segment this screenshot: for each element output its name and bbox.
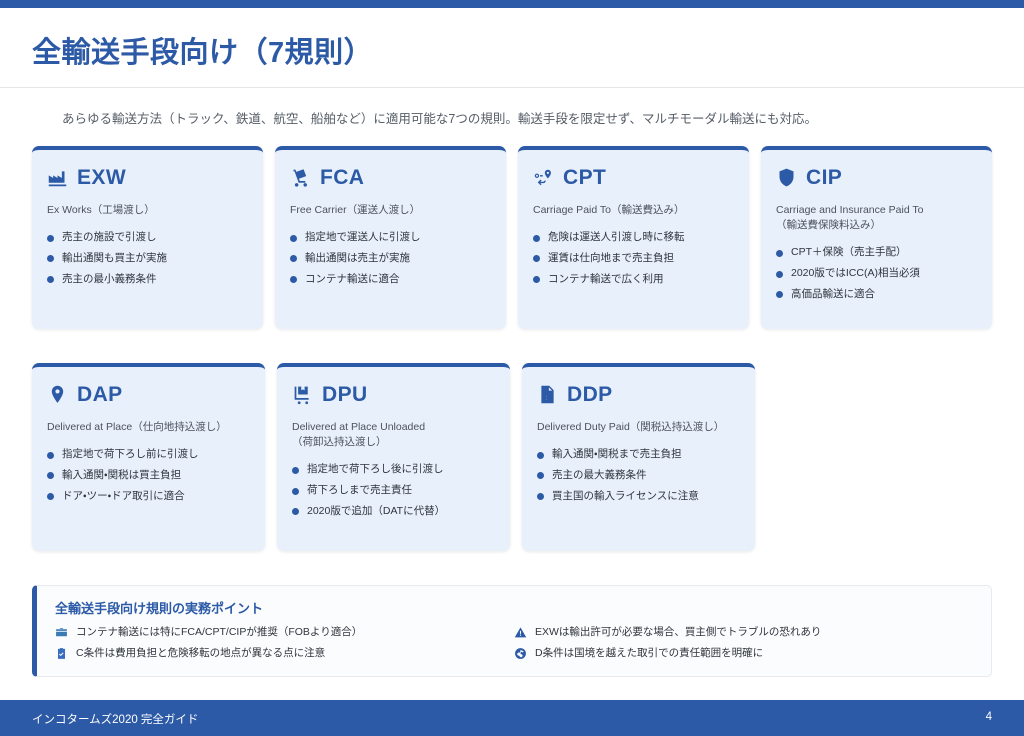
- tip-item: D条件は国境を越えた取引での責任範囲を明確に: [514, 647, 973, 660]
- bullet-text: 輸入通関・関税は買主負担: [62, 469, 181, 483]
- card-subtitle: Delivered at Place（仕向地持込渡し）: [47, 420, 250, 435]
- bullet-item: ドア・ツー・ドア取引に適合: [47, 490, 250, 504]
- bullet-dot-icon: [47, 452, 54, 459]
- tips-column-left: コンテナ輸送には特にFCA/CPT/CIPが推奨（FOBより適合） C条件は費用…: [55, 626, 514, 668]
- bullet-item: 2020版ではICC(A)相当必須: [776, 267, 977, 281]
- practical-tips-panel: 全輸送手段向け規則の実務ポイント コンテナ輸送には特にFCA/CPT/CIPが推…: [32, 585, 992, 677]
- bullet-text: 2020版で追加（DATに代替）: [307, 505, 445, 519]
- cart-icon: [292, 384, 313, 405]
- card-code: DAP: [77, 384, 123, 405]
- bullet-dot-icon: [533, 255, 540, 262]
- bullet-item: CPT＋保険（売主手配）: [776, 246, 977, 260]
- bullet-dot-icon: [47, 493, 54, 500]
- bullet-text: 高価品輸送に適合: [791, 288, 875, 302]
- incoterm-card-dpu[interactable]: DPU Delivered at Place Unloaded （荷卸込持込渡し…: [277, 363, 510, 551]
- factory-icon: [47, 167, 68, 188]
- bullet-text: 運賃は仕向地まで売主負担: [548, 252, 674, 266]
- tip-item: EXWは輸出許可が必要な場合、買主側でトラブルの恐れあり: [514, 626, 973, 639]
- tip-item: コンテナ輸送には特にFCA/CPT/CIPが推奨（FOBより適合）: [55, 626, 514, 639]
- bullet-item: 買主国の輸入ライセンスに注意: [537, 490, 740, 504]
- card-bullets: CPT＋保険（売主手配） 2020版ではICC(A)相当必須 高価品輸送に適合: [776, 246, 977, 301]
- tip-item: C条件は費用負担と危険移転の地点が異なる点に注意: [55, 647, 514, 660]
- bullet-item: 2020版で追加（DATに代替）: [292, 505, 495, 519]
- card-header: FCA: [290, 164, 491, 190]
- clipboard-check-icon: [55, 647, 68, 660]
- card-row-1: EXW Ex Works（工場渡し） 売主の施設で引渡し 輸出通関も買主が実施 …: [32, 146, 992, 329]
- bullet-text: 売主の最小義務条件: [62, 273, 157, 287]
- bullet-item: 荷下ろしまで売主責任: [292, 484, 495, 498]
- card-code: DPU: [322, 384, 368, 405]
- card-header: DDP: [537, 381, 740, 407]
- incoterm-card-fca[interactable]: FCA Free Carrier（運送人渡し） 指定地で運送人に引渡し 輸出通関…: [275, 146, 506, 329]
- bullet-text: 輸出通関も買主が実施: [62, 252, 167, 266]
- bullet-text: 指定地で荷下ろし前に引渡し: [62, 448, 199, 462]
- card-bullets: 危険は運送人引渡し時に移転 運賃は仕向地まで売主負担 コンテナ輸送で広く利用: [533, 231, 734, 286]
- bullet-dot-icon: [290, 255, 297, 262]
- footer-title: インコタームズ2020 完全ガイド: [32, 711, 198, 727]
- tips-title: 全輸送手段向け規則の実務ポイント: [55, 598, 973, 617]
- top-accent-bar: [0, 0, 1024, 8]
- bullet-text: 荷下ろしまで売主責任: [307, 484, 412, 498]
- bullet-item: 輸入通関・関税は買主負担: [47, 469, 250, 483]
- bullet-item: 危険は運送人引渡し時に移転: [533, 231, 734, 245]
- card-header: EXW: [47, 164, 248, 190]
- card-code: DDP: [567, 384, 613, 405]
- bullet-item: 輸出通関も買主が実施: [47, 252, 248, 266]
- shield-icon: [776, 167, 797, 188]
- card-subtitle: Ex Works（工場渡し）: [47, 203, 248, 218]
- bullet-text: CPT＋保険（売主手配）: [791, 246, 907, 260]
- bullet-dot-icon: [290, 235, 297, 242]
- bullet-dot-icon: [47, 472, 54, 479]
- card-subtitle: Delivered at Place Unloaded （荷卸込持込渡し）: [292, 420, 495, 450]
- bullet-dot-icon: [47, 255, 54, 262]
- bullet-dot-icon: [292, 488, 299, 495]
- bullet-text: 売主の施設で引渡し: [62, 231, 157, 245]
- slide-header: 全輸送手段向け（7規則）: [0, 8, 1024, 88]
- bullet-text: 危険は運送人引渡し時に移転: [548, 231, 685, 245]
- bullet-text: 輸出通関は売主が実施: [305, 252, 410, 266]
- bullet-text: 指定地で運送人に引渡し: [305, 231, 421, 245]
- slide: 全輸送手段向け（7規則） あらゆる輸送方法（トラック、鉄道、航空、船舶など）に適…: [0, 0, 1024, 736]
- card-header: DPU: [292, 381, 495, 407]
- bullet-item: 指定地で荷下ろし後に引渡し: [292, 463, 495, 477]
- page-title: 全輸送手段向け（7規則）: [32, 29, 373, 71]
- card-bullets: 指定地で荷下ろし後に引渡し 荷下ろしまで売主責任 2020版で追加（DATに代替…: [292, 463, 495, 518]
- incoterm-card-ddp[interactable]: DDP Delivered Duty Paid（関税込持込渡し） 輸入通関・関税…: [522, 363, 755, 551]
- card-code: CIP: [806, 167, 842, 188]
- bullet-item: 輸入通関・関税まで売主負担: [537, 448, 740, 462]
- bullet-text: 指定地で荷下ろし後に引渡し: [307, 463, 444, 477]
- bullet-item: コンテナ輸送に適合: [290, 273, 491, 287]
- tips-column-right: EXWは輸出許可が必要な場合、買主側でトラブルの恐れあり D条件は国境を越えた取…: [514, 626, 973, 668]
- bullet-dot-icon: [533, 276, 540, 283]
- bullet-item: 輸出通関は売主が実施: [290, 252, 491, 266]
- tip-text: コンテナ輸送には特にFCA/CPT/CIPが推奨（FOBより適合）: [76, 626, 362, 639]
- bullet-dot-icon: [292, 508, 299, 515]
- hand-truck-icon: [290, 167, 311, 188]
- globe-icon: [514, 647, 527, 660]
- incoterm-card-dap[interactable]: DAP Delivered at Place（仕向地持込渡し） 指定地で荷下ろし…: [32, 363, 265, 551]
- card-header: CIP: [776, 164, 977, 190]
- invoice-icon: [537, 384, 558, 405]
- card-bullets: 指定地で運送人に引渡し 輸出通関は売主が実施 コンテナ輸送に適合: [290, 231, 491, 286]
- bullet-dot-icon: [47, 235, 54, 242]
- card-code: EXW: [77, 167, 126, 188]
- bullet-dot-icon: [47, 276, 54, 283]
- card-bullets: 売主の施設で引渡し 輸出通関も買主が実施 売主の最小義務条件: [47, 231, 248, 286]
- tip-text: D条件は国境を越えた取引での責任範囲を明確に: [535, 647, 763, 660]
- card-subtitle: Delivered Duty Paid（関税込持込渡し）: [537, 420, 740, 435]
- tips-columns: コンテナ輸送には特にFCA/CPT/CIPが推奨（FOBより適合） C条件は費用…: [55, 626, 973, 668]
- bullet-item: 指定地で荷下ろし前に引渡し: [47, 448, 250, 462]
- bullet-dot-icon: [533, 235, 540, 242]
- bullet-text: 売主の最大義務条件: [552, 469, 647, 483]
- location-pin-icon: [47, 384, 68, 405]
- card-code: FCA: [320, 167, 364, 188]
- card-subtitle: Carriage and Insurance Paid To （輸送費保険料込み…: [776, 203, 977, 233]
- card-header: CPT: [533, 164, 734, 190]
- card-header: DAP: [47, 381, 250, 407]
- slide-footer: インコタームズ2020 完全ガイド 4: [0, 700, 1024, 736]
- bullet-dot-icon: [776, 291, 783, 298]
- container-icon: [55, 626, 68, 639]
- bullet-dot-icon: [290, 276, 297, 283]
- incoterm-card-exw[interactable]: EXW Ex Works（工場渡し） 売主の施設で引渡し 輸出通関も買主が実施 …: [32, 146, 263, 329]
- bullet-text: コンテナ輸送で広く利用: [548, 273, 664, 287]
- incoterm-card-cpt[interactable]: CPT Carriage Paid To（輸送費込み） 危険は運送人引渡し時に移…: [518, 146, 749, 329]
- card-subtitle: Free Carrier（運送人渡し）: [290, 203, 491, 218]
- bullet-text: 輸入通関・関税まで売主負担: [552, 448, 682, 462]
- footer-page-number: 4: [986, 711, 992, 723]
- bullet-dot-icon: [776, 271, 783, 278]
- bullet-item: 売主の最大義務条件: [537, 469, 740, 483]
- bullet-item: コンテナ輸送で広く利用: [533, 273, 734, 287]
- warning-icon: [514, 626, 527, 639]
- bullet-text: 2020版ではICC(A)相当必須: [791, 267, 920, 281]
- bullet-item: 高価品輸送に適合: [776, 288, 977, 302]
- card-bullets: 指定地で荷下ろし前に引渡し 輸入通関・関税は買主負担 ドア・ツー・ドア取引に適合: [47, 448, 250, 503]
- bullet-text: 買主国の輸入ライセンスに注意: [552, 490, 699, 504]
- tip-text: EXWは輸出許可が必要な場合、買主側でトラブルの恐れあり: [535, 626, 821, 639]
- incoterms-card-grid: EXW Ex Works（工場渡し） 売主の施設で引渡し 輸出通関も買主が実施 …: [32, 146, 992, 551]
- card-bullets: 輸入通関・関税まで売主負担 売主の最大義務条件 買主国の輸入ライセンスに注意: [537, 448, 740, 503]
- card-row-2: DAP Delivered at Place（仕向地持込渡し） 指定地で荷下ろし…: [32, 363, 992, 551]
- bullet-text: ドア・ツー・ドア取引に適合: [62, 490, 185, 504]
- bullet-item: 指定地で運送人に引渡し: [290, 231, 491, 245]
- incoterm-card-cip[interactable]: CIP Carriage and Insurance Paid To （輸送費保…: [761, 146, 992, 329]
- bullet-item: 売主の施設で引渡し: [47, 231, 248, 245]
- bullet-dot-icon: [537, 472, 544, 479]
- slide-subtitle: あらゆる輸送方法（トラック、鉄道、航空、船舶など）に適用可能な7つの規則。輸送手…: [62, 108, 817, 127]
- tip-text: C条件は費用負担と危険移転の地点が異なる点に注意: [76, 647, 325, 660]
- bullet-dot-icon: [537, 452, 544, 459]
- card-code: CPT: [563, 167, 606, 188]
- bullet-item: 売主の最小義務条件: [47, 273, 248, 287]
- bullet-item: 運賃は仕向地まで売主負担: [533, 252, 734, 266]
- bullet-dot-icon: [537, 493, 544, 500]
- route-icon: [533, 167, 554, 188]
- bullet-dot-icon: [292, 467, 299, 474]
- bullet-text: コンテナ輸送に適合: [305, 273, 400, 287]
- bullet-dot-icon: [776, 250, 783, 257]
- card-subtitle: Carriage Paid To（輸送費込み）: [533, 203, 734, 218]
